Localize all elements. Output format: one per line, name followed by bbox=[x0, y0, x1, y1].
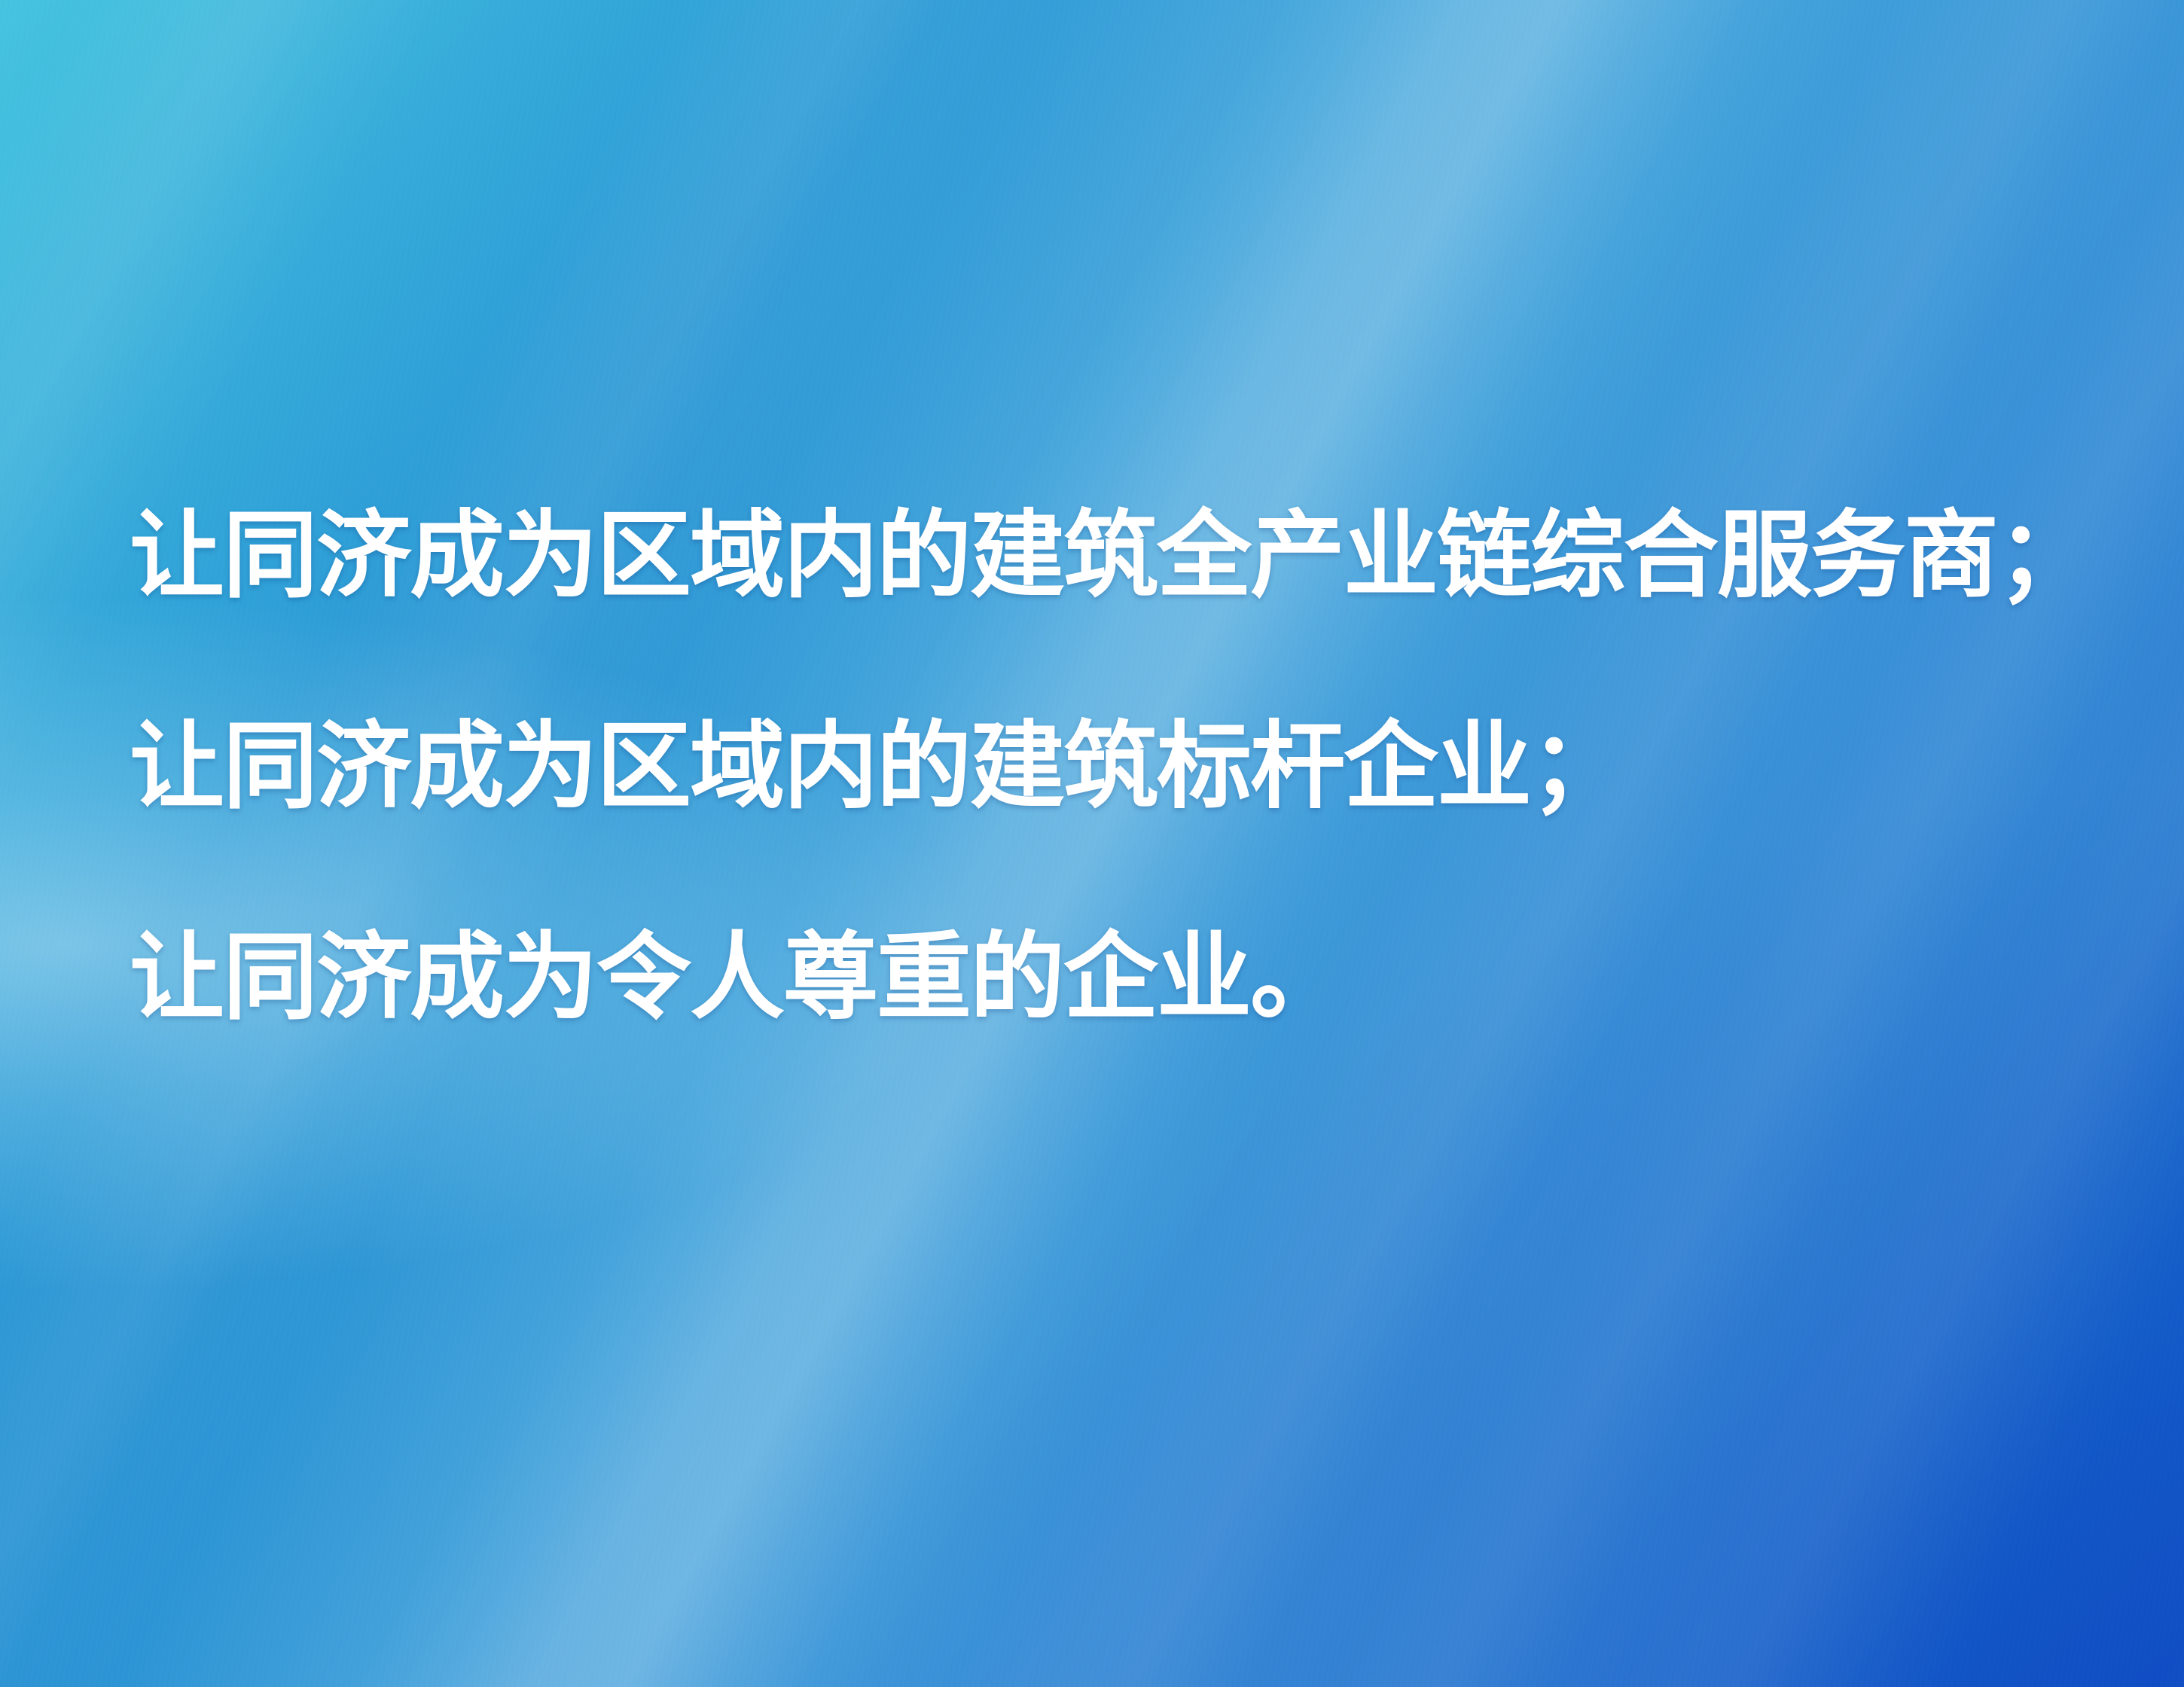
vision-statement-line-1: 让同济成为区域内的建筑全产业链综合服务商； bbox=[130, 452, 2103, 663]
slide-canvas: 让同济成为区域内的建筑全产业链综合服务商； 让同济成为区域内的建筑标杆企业； 让… bbox=[0, 0, 2184, 1687]
vision-statement-line-2: 让同济成为区域内的建筑标杆企业； bbox=[130, 663, 2103, 874]
vision-statement-block: 让同济成为区域内的建筑全产业链综合服务商； 让同济成为区域内的建筑标杆企业； 让… bbox=[130, 452, 2103, 1084]
vision-statement-line-3: 让同济成为令人尊重的企业。 bbox=[130, 874, 2103, 1084]
